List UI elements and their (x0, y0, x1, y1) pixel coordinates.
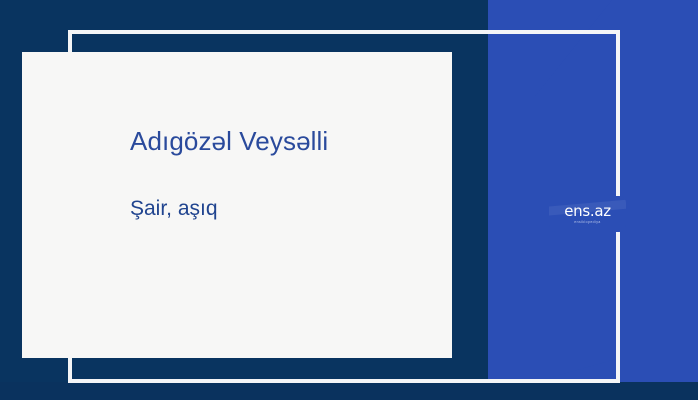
logo-wordmark: ens.az (564, 204, 611, 219)
page-title: Adıgözəl Veysəlli (130, 126, 428, 158)
share-card-canvas: Adıgözəl Veysəlli Şair, aşıq ens.az ensi… (0, 0, 698, 400)
content-card-text-block: Adıgözəl Veysəlli Şair, aşıq (130, 126, 428, 222)
logo-wordmark-text: ens.az (564, 202, 611, 220)
page-subtitle: Şair, aşıq (130, 196, 428, 222)
background-bottom-shade (0, 382, 698, 400)
ens-az-logo-badge[interactable]: ens.az ensiklopediya (549, 196, 626, 232)
content-card: Adıgözəl Veysəlli Şair, aşıq (22, 52, 452, 358)
logo-tagline: ensiklopediya (574, 221, 600, 224)
